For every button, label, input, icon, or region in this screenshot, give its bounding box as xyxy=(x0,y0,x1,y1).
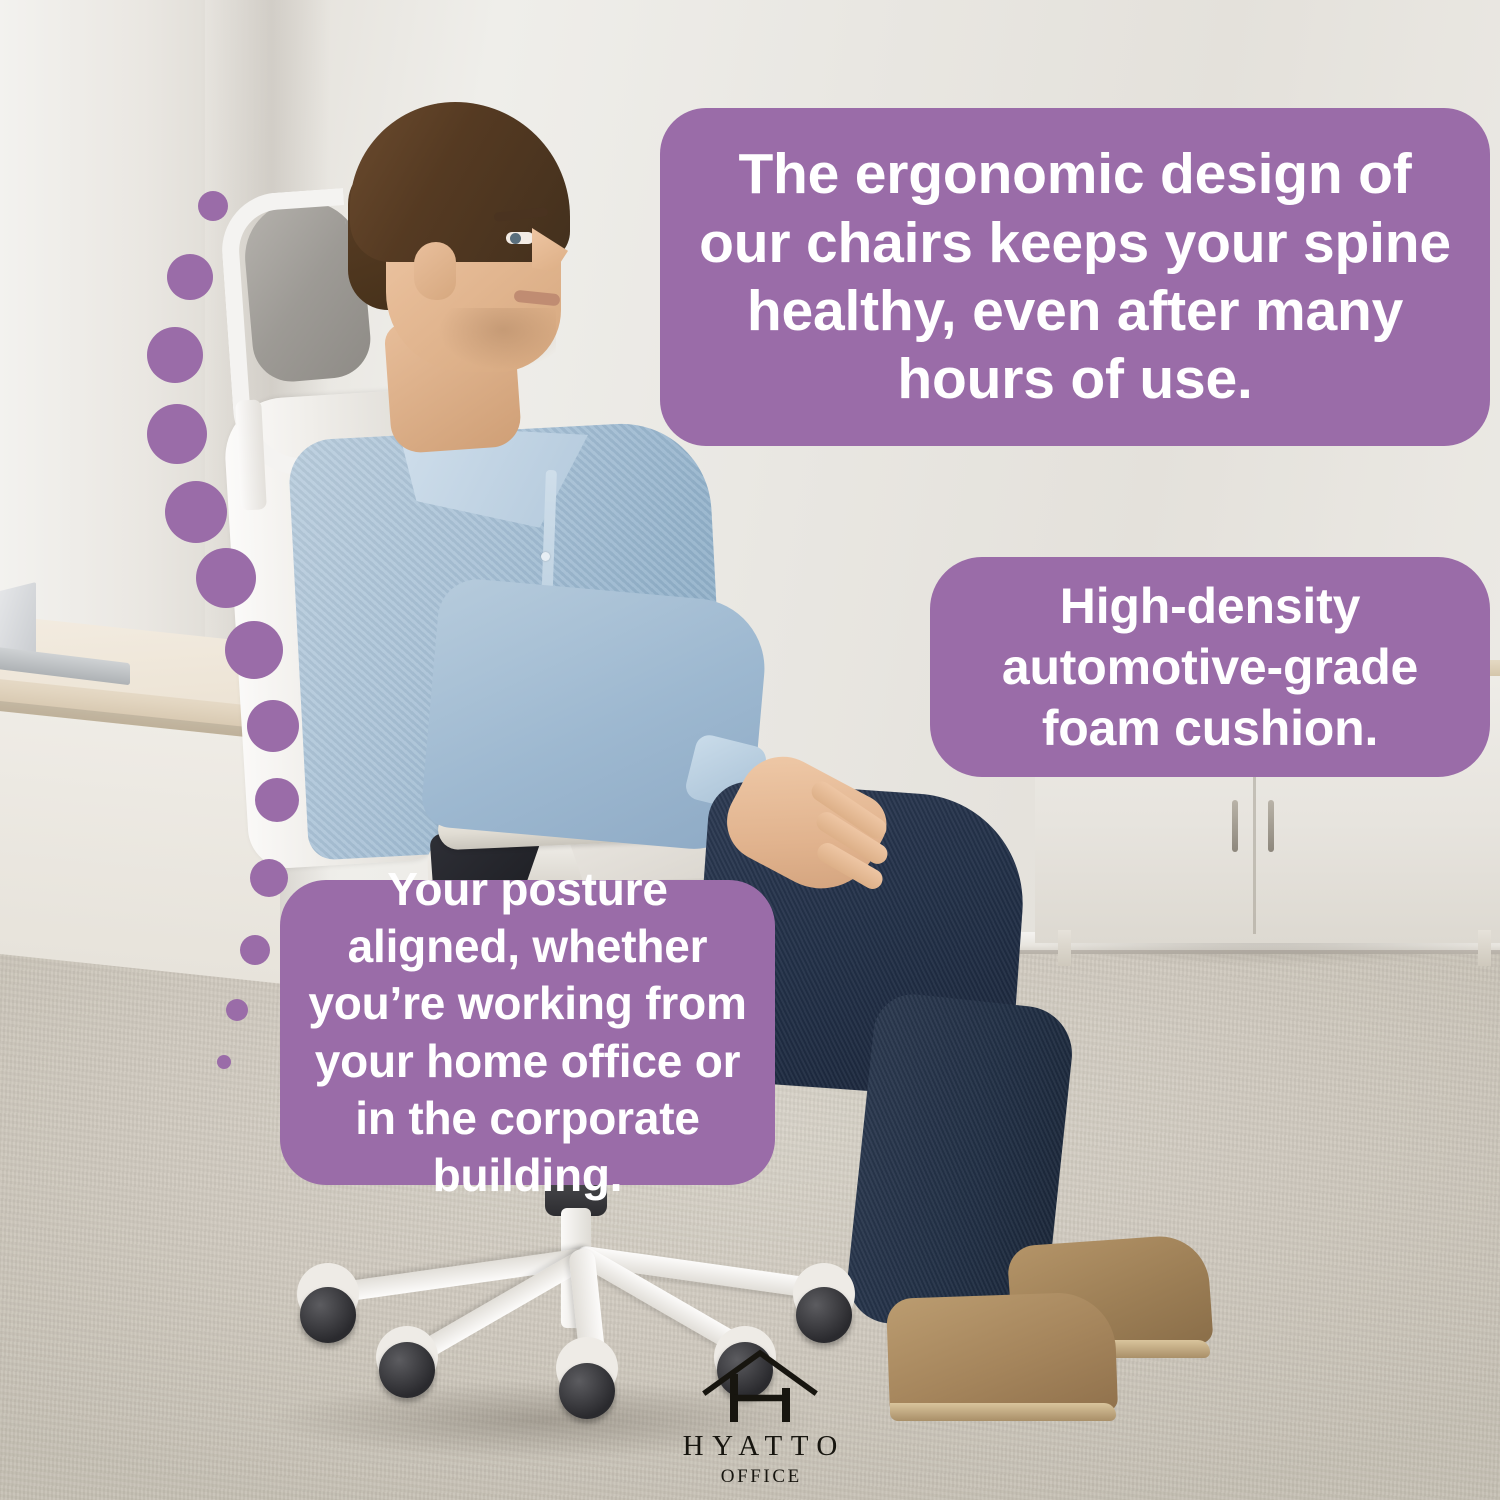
spine-dot xyxy=(240,935,270,965)
spine-dot xyxy=(147,404,207,464)
brand-logo: HYATTO OFFICE xyxy=(660,1348,860,1496)
spine-dot xyxy=(165,481,227,543)
marketing-image: The ergonomic design of our chairs keeps… xyxy=(0,0,1500,1500)
callout-posture-aligned: Your posture aligned, whether you’re wor… xyxy=(280,880,775,1185)
chair-caster xyxy=(379,1342,435,1398)
spine-dot xyxy=(217,1055,231,1069)
spine-dot xyxy=(255,778,299,822)
person-eye xyxy=(506,232,534,244)
cabinet-leg-left xyxy=(1058,930,1071,966)
spine-dot xyxy=(247,700,299,752)
shirt-button xyxy=(541,552,550,561)
cabinet-handle-right xyxy=(1268,800,1274,852)
shoe-sole-front xyxy=(890,1403,1116,1421)
shoe-front xyxy=(886,1291,1118,1419)
spine-dot xyxy=(147,327,203,383)
cabinet-handle-left xyxy=(1232,800,1238,852)
spine-dot xyxy=(226,999,248,1021)
brand-subtitle: OFFICE xyxy=(718,1466,802,1488)
chair-caster xyxy=(796,1287,852,1343)
spine-dot xyxy=(225,621,283,679)
desk-modesty-panel xyxy=(0,698,280,983)
house-outline-with-h-icon xyxy=(700,1348,820,1426)
callout-foam-cushion: High-density automotive-grade foam cushi… xyxy=(930,557,1490,777)
cabinet-leg-right xyxy=(1478,930,1491,966)
spine-dot xyxy=(250,859,288,897)
person-head xyxy=(318,90,573,380)
callout-ergonomic-design: The ergonomic design of our chairs keeps… xyxy=(660,108,1490,446)
chair-caster xyxy=(300,1287,356,1343)
spine-dot xyxy=(198,191,228,221)
person-ear xyxy=(414,242,456,300)
spine-dot xyxy=(167,254,213,300)
brand-name: HYATTO xyxy=(674,1430,846,1463)
jaw-shadow xyxy=(438,308,556,370)
iris xyxy=(510,233,521,244)
spine-dot xyxy=(196,548,256,608)
